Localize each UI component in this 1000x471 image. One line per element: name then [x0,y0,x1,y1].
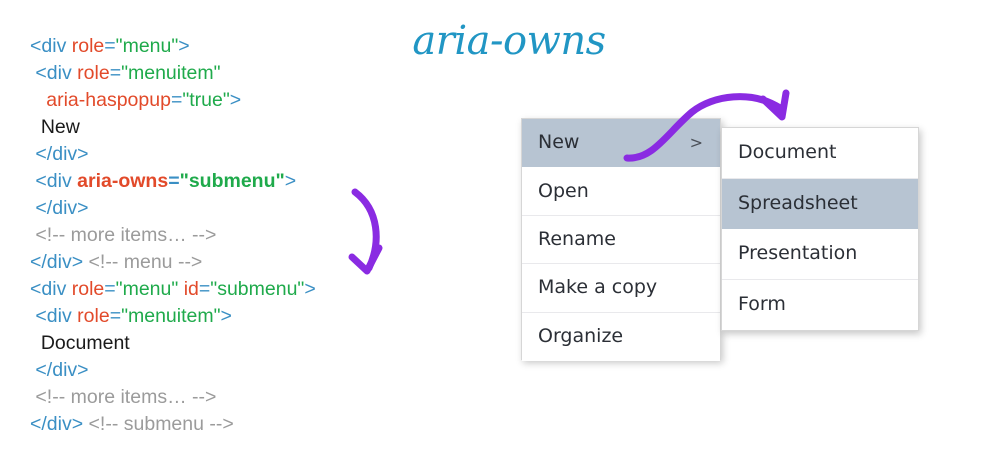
menu-item-label: Spreadsheet [738,194,858,213]
code-token: "menuitem" [121,305,220,327]
page-title: aria-owns [389,18,629,64]
menu-item-presentation[interactable]: Presentation [722,229,918,280]
code-token: <div [35,170,77,192]
code-line: </div> <!-- menu --> [30,249,316,276]
code-token: > [230,89,241,111]
code-token: "true" [182,89,229,111]
code-token: = [104,35,115,57]
menu-item-label: Make a copy [538,278,657,297]
code-line: <!-- more items… --> [30,222,316,249]
menu-item-open[interactable]: Open [522,167,720,215]
menu-item-label: Organize [538,327,623,346]
chevron-right-icon: > [690,133,703,152]
code-token: </div> [35,197,88,219]
code-token: "menuitem" [121,62,220,84]
menu-item-spreadsheet[interactable]: Spreadsheet [722,179,918,230]
code-line: </div> [30,141,316,168]
code-token: = [110,305,121,327]
code-line: <div role="menuitem"> [30,303,316,330]
code-line: <div role="menu" id="submenu"> [30,276,316,303]
code-token: > [304,278,315,300]
menu-item-organize[interactable]: Organize [522,313,720,361]
menu-item-label: Form [738,295,786,314]
code-line: <div aria-owns="submenu"> [30,168,316,195]
code-line: </div> [30,357,316,384]
code-token: Document [41,332,130,354]
code-token: "menu" [116,35,179,57]
code-token: = [104,278,115,300]
code-line: aria-haspopup="true"> [30,87,316,114]
code-token: role [72,35,105,57]
code-line: <div role="menu"> [30,33,316,60]
code-token: </div> [35,143,88,165]
code-token: New [41,116,80,138]
file-menu[interactable]: New>OpenRenameMake a copyOrganize [521,118,721,360]
menu-item-make-a-copy[interactable]: Make a copy [522,264,720,312]
code-token: role [77,305,110,327]
code-token: id [184,278,199,300]
menu-item-label: Presentation [738,244,857,263]
code-token: <div [30,278,72,300]
menu-item-label: Open [538,182,589,201]
code-token: <!-- menu --> [83,251,202,273]
code-line: </div> [30,195,316,222]
code-token: > [178,35,189,57]
code-token: "menu" [116,278,179,300]
arrow-code-owns-to-submenu-icon [352,192,379,271]
code-token: = [110,62,121,84]
new-submenu[interactable]: DocumentSpreadsheetPresentationForm [721,127,919,331]
code-token: aria-owns [77,170,168,192]
code-token: </div> [30,251,83,273]
code-token: <div [35,305,77,327]
code-listing: <div role="menu"> <div role="menuitem" a… [30,33,316,438]
code-token: </div> [35,359,88,381]
code-token: = [168,170,179,192]
code-token: = [171,89,182,111]
menu-item-rename[interactable]: Rename [522,216,720,264]
code-line: <!-- more items… --> [30,384,316,411]
code-indent [30,89,46,111]
menu-item-new[interactable]: New> [522,119,720,167]
code-line: Document [30,330,316,357]
menu-item-label: New [538,133,579,152]
code-token: </div> [30,413,83,435]
code-token: "submenu" [210,278,304,300]
code-token: <!-- more items… --> [35,224,216,246]
code-token: <!-- submenu --> [83,413,234,435]
code-token: <!-- more items… --> [35,386,216,408]
code-line: <div role="menuitem" [30,60,316,87]
code-token: > [221,305,232,327]
menu-item-document[interactable]: Document [722,128,918,179]
menu-item-label: Document [738,143,836,162]
code-token: <div [30,35,72,57]
code-line: New [30,114,316,141]
code-token: = [199,278,210,300]
code-token: <div [35,62,77,84]
code-token: "submenu" [180,170,285,192]
code-indent [30,116,41,138]
menu-item-label: Rename [538,230,616,249]
code-token: role [72,278,105,300]
code-line: </div> <!-- submenu --> [30,411,316,438]
code-token: aria-haspopup [46,89,171,111]
code-token: role [77,62,110,84]
menu-item-form[interactable]: Form [722,280,918,331]
code-token: > [285,170,296,192]
code-indent [30,332,41,354]
